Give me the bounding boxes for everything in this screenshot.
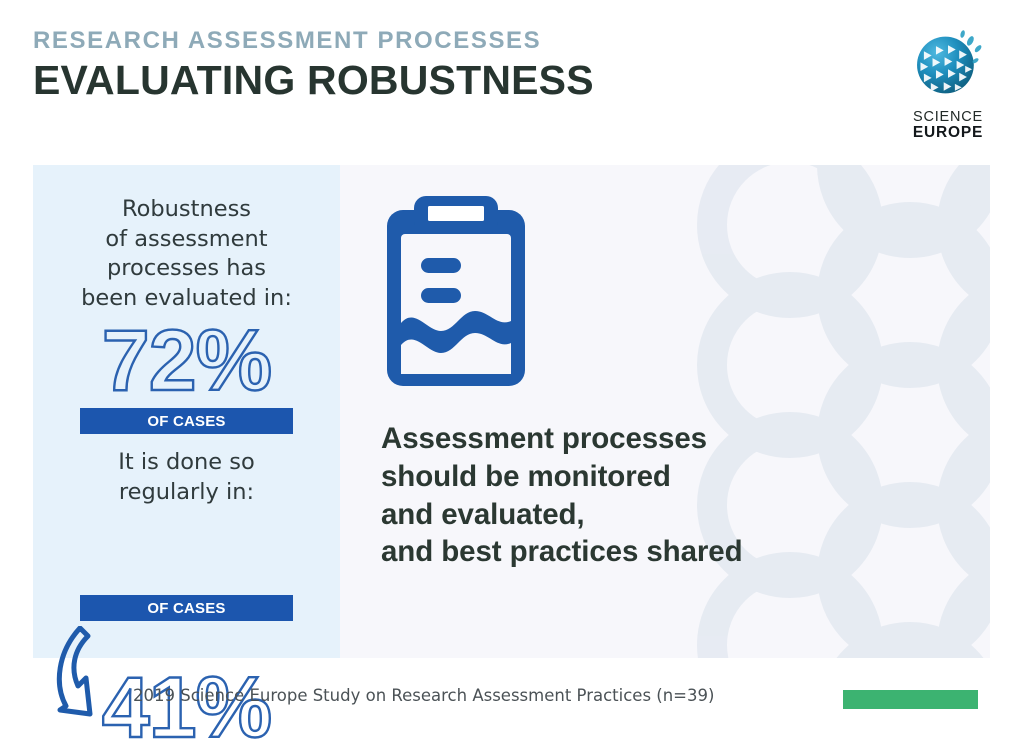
logo-word-line1: SCIENCE <box>896 110 1000 125</box>
message-line-4: and best practices shared <box>381 533 901 571</box>
stat1-label-line-3: processes has <box>107 255 266 281</box>
stat1-label-line-1: Robustness <box>122 196 251 222</box>
stat2-badge: OF CASES <box>80 595 293 621</box>
header-block: RESEARCH ASSESSMENT PROCESSES EVALUATING… <box>33 28 594 102</box>
stat1-badge: OF CASES <box>80 408 293 434</box>
stat2-badge-label: OF CASES <box>147 600 225 617</box>
stat2-label-line-2: regularly in: <box>119 479 254 505</box>
logo-wordmark: SCIENCE EUROPE <box>896 110 1000 140</box>
curved-down-arrow-icon <box>50 626 142 718</box>
message-line-1: Assessment processes <box>381 420 901 458</box>
stat1-label-line-4: been evaluated in: <box>81 285 292 311</box>
main-message: Assessment processes should be monitored… <box>381 420 901 571</box>
stat1-label: Robustness of assessment processes has b… <box>33 195 340 314</box>
stat2-label-line-1: It is done so <box>118 449 255 475</box>
floral-watermark-pattern <box>670 165 990 658</box>
clipboard-icon <box>381 192 531 392</box>
stat1-value: 72% <box>33 318 340 404</box>
message-line-3: and evaluated, <box>381 496 901 534</box>
stat1-badge-label: OF CASES <box>147 413 225 430</box>
faceted-sphere-icon <box>905 22 991 108</box>
infographic-canvas: RESEARCH ASSESSMENT PROCESSES EVALUATING… <box>0 0 1024 750</box>
logo-word-line2: EUROPE <box>896 125 1000 141</box>
page-title: EVALUATING ROBUSTNESS <box>33 58 594 102</box>
stats-panel: Robustness of assessment processes has b… <box>33 165 340 658</box>
eyebrow-title: RESEARCH ASSESSMENT PROCESSES <box>33 28 594 53</box>
stat1-label-line-2: of assessment <box>105 226 267 252</box>
message-line-2: should be monitored <box>381 458 901 496</box>
science-europe-logo: SCIENCE EUROPE <box>896 22 1000 140</box>
stat2-label: It is done so regularly in: <box>33 448 340 507</box>
green-accent-bar <box>843 690 978 709</box>
source-note: 2019 Science Europe Study on Research As… <box>133 686 714 705</box>
